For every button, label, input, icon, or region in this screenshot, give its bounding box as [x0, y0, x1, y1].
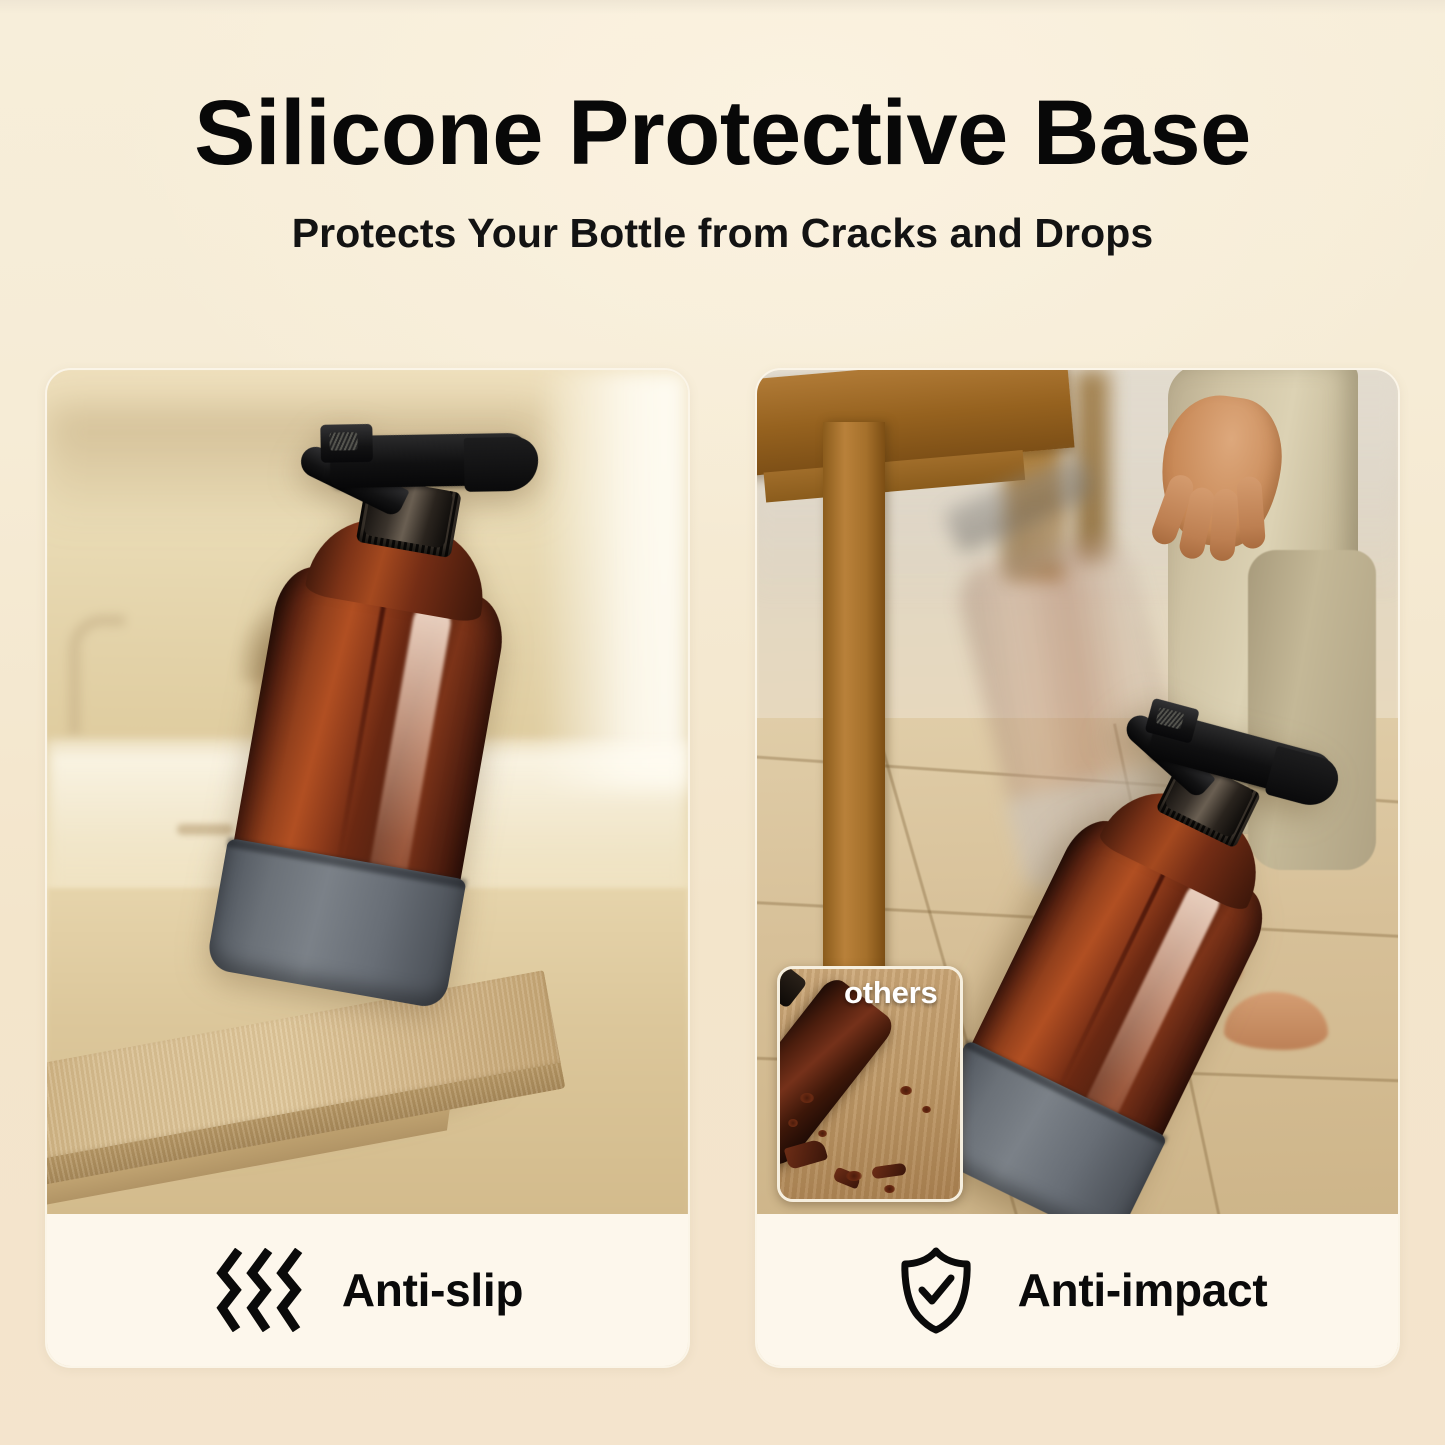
anti-impact-label-strip: Anti-impact — [757, 1214, 1398, 1366]
anti-slip-label-strip: Anti-slip — [47, 1214, 688, 1366]
feature-card-anti-impact: others Anti-impact — [755, 368, 1400, 1368]
page-subtitle: Protects Your Bottle from Cracks and Dro… — [0, 210, 1445, 257]
table-leg — [823, 422, 885, 1002]
anti-impact-label: Anti-impact — [1018, 1263, 1268, 1317]
shield-check-icon — [888, 1247, 984, 1333]
anti-slip-photo — [47, 370, 688, 1218]
liquid-splatter — [800, 1093, 814, 1103]
liquid-splatter — [900, 1086, 912, 1095]
finger — [1236, 476, 1266, 550]
feature-cards: Anti-slip — [45, 368, 1400, 1368]
faucet-icon — [69, 615, 125, 735]
liquid-splatter — [922, 1106, 931, 1113]
window-light — [538, 370, 688, 790]
header: Silicone Protective Base Protects Your B… — [0, 86, 1445, 257]
anti-impact-photo: others — [757, 370, 1398, 1218]
page-title: Silicone Protective Base — [0, 86, 1445, 182]
others-label: others — [844, 975, 938, 1011]
feature-card-anti-slip: Anti-slip — [45, 368, 690, 1368]
liquid-splatter — [884, 1185, 895, 1193]
anti-slip-label: Anti-slip — [342, 1263, 523, 1317]
sprayer-nozzle-icon — [320, 424, 373, 463]
finger — [1209, 488, 1239, 562]
liquid-splatter — [846, 1171, 862, 1181]
zigzag-waves-icon — [212, 1247, 308, 1333]
liquid-splatter — [788, 1119, 798, 1127]
liquid-splatter — [818, 1130, 827, 1137]
infographic-page: Silicone Protective Base Protects Your B… — [0, 0, 1445, 1445]
others-comparison-inset: others — [777, 966, 963, 1202]
drawer-handle — [177, 824, 233, 835]
